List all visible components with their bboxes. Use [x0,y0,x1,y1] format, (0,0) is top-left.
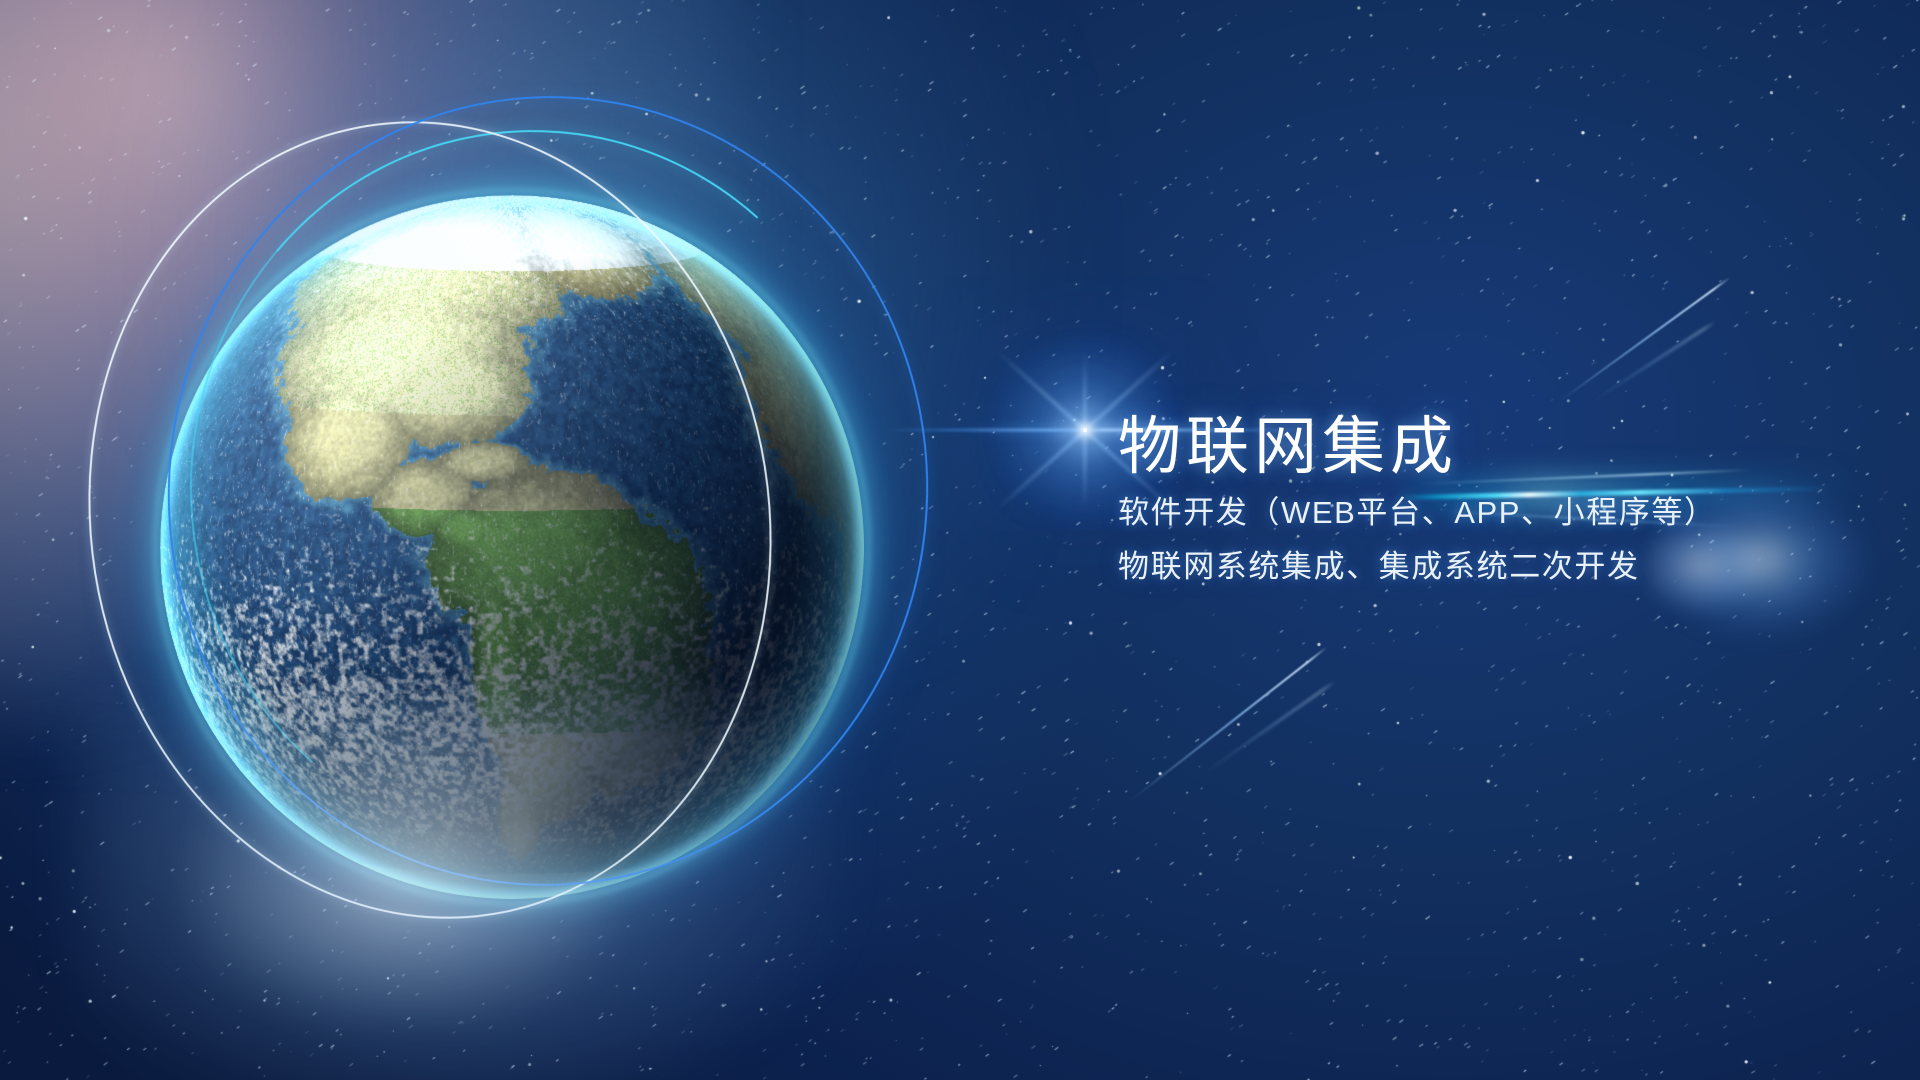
banner-subtitle-line-2: 物联网系统集成、集成系统二次开发 [1118,548,1878,586]
globe-edge-glow [154,189,870,905]
lens-flare-spike-c [1084,355,1087,505]
meteor-lower-center-secondary [1200,680,1336,776]
earth-globe [160,195,864,899]
globe-sphere [160,195,864,899]
aurora-glow-warm [0,0,320,700]
aurora-glow-pink [0,0,740,730]
meteor-upper-right-secondary [1590,320,1717,403]
aurora-glow-cyan [160,0,1060,620]
banner-text-block: 物联网集成 软件开发（WEB平台、APP、小程序等） 物联网系统集成、集成系统二… [1118,414,1878,586]
hero-banner: 物联网集成 软件开发（WEB平台、APP、小程序等） 物联网系统集成、集成系统二… [0,0,1920,1080]
cyan-atmosphere-arc [166,107,905,873]
lens-flare-core [1083,428,1087,432]
banner-main-title: 物联网集成 [1118,414,1878,480]
blue-orbit-ring [129,58,967,923]
globe-mist-highlight [190,760,610,1020]
meteor-lower-center [1129,646,1327,801]
banner-subtitle-line-1: 软件开发（WEB平台、APP、小程序等） [1118,494,1878,532]
globe-shading [160,195,864,899]
globe-atmosphere-glow [90,125,934,969]
globe-rim-light [160,195,864,899]
outer-white-orbit-ring [32,72,829,969]
globe-mist-reflection [80,700,840,1080]
meteor-upper-right [1559,277,1730,402]
